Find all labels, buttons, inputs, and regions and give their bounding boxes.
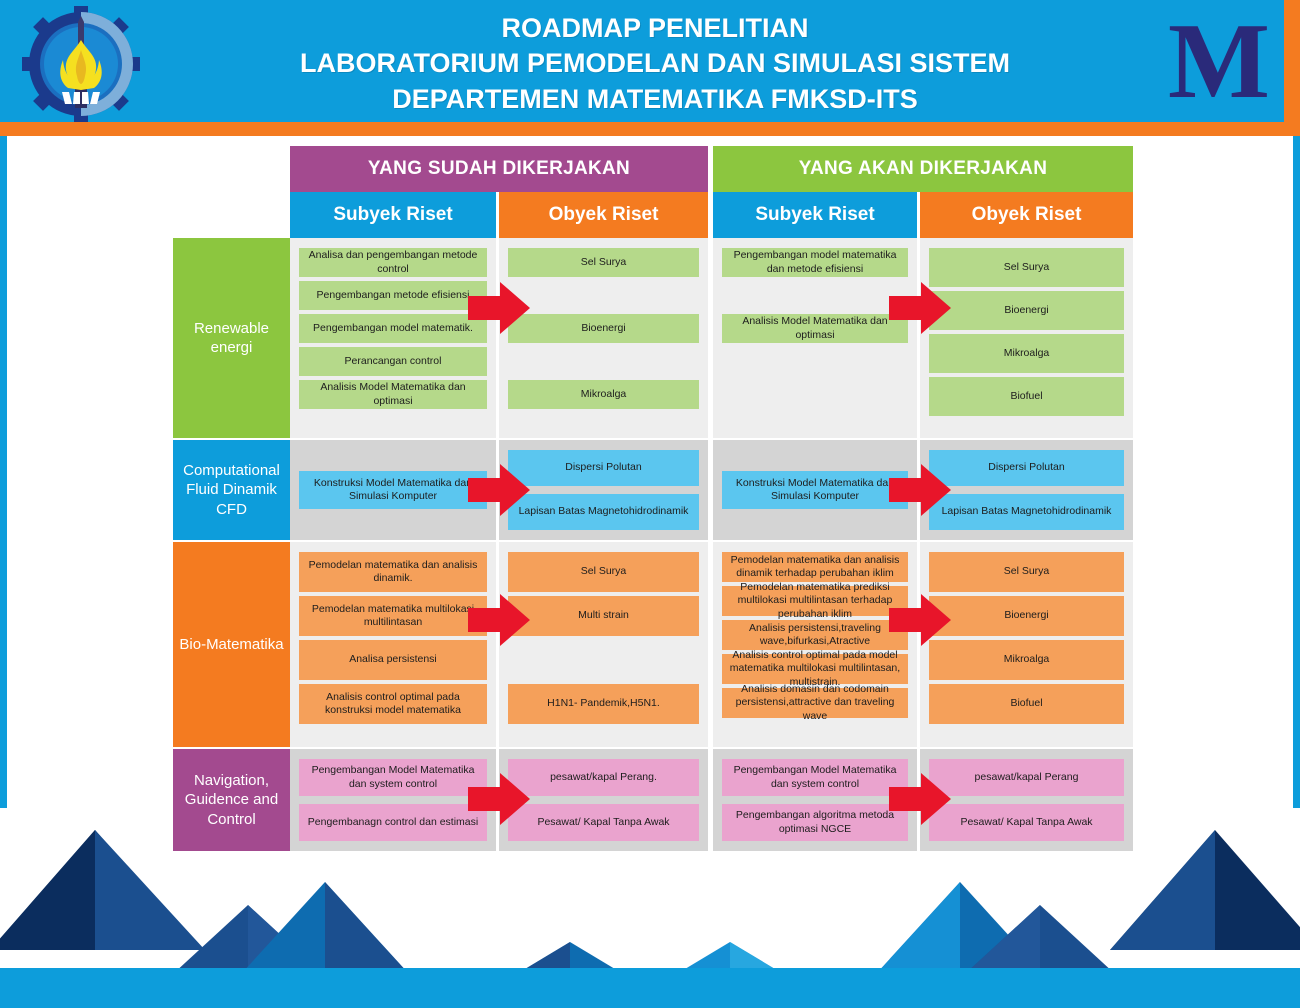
cell-panel-done-subject: Konstruksi Model Matematika dan Simulasi…	[290, 440, 496, 540]
phase-header-done: YANG SUDAH DIKERJAKAN	[290, 146, 708, 192]
row-category-label: Computational Fluid Dinamik CFD	[177, 461, 286, 519]
cell-chip[interactable]: Perancangan control	[299, 347, 487, 376]
cell-chip[interactable]: Analisis Model Matematika dan optimasi	[722, 314, 908, 343]
cell-chip[interactable]: Analisis Model Matematika dan optimasi	[299, 380, 487, 409]
row-category-label: Bio-Matematika	[179, 635, 283, 654]
cell-chip[interactable]: Pengembangan Model Matematika dan system…	[299, 759, 487, 796]
cell-chip[interactable]: pesawat/kapal Perang.	[508, 759, 699, 796]
cell-chip[interactable]: Pemodelan matematika multilokasi multili…	[299, 596, 487, 636]
cell-chip[interactable]: Pengembangan Model Matematika dan system…	[722, 759, 908, 796]
cell-chip[interactable]: Sel Surya	[929, 552, 1124, 592]
row-category-label: Renewable energi	[177, 319, 286, 357]
cell-chip[interactable]: Bioenergi	[929, 291, 1124, 330]
cell-chip[interactable]: H1N1- Pandemik,H5N1.	[508, 684, 699, 724]
cell-chip-empty	[508, 347, 699, 376]
cell-chip[interactable]: Sel Surya	[508, 248, 699, 277]
row-category-2[interactable]: Computational Fluid Dinamik CFD	[173, 440, 290, 540]
cell-chip[interactable]: Sel Surya	[508, 552, 699, 592]
its-logo-icon	[22, 6, 140, 122]
column-header-object-done: Obyek Riset	[499, 192, 708, 238]
cell-chip-empty	[508, 640, 699, 680]
cell-chip[interactable]: Dispersi Polutan	[929, 450, 1124, 486]
cell-chip[interactable]: Mikroalga	[929, 640, 1124, 680]
roadmap-row: Bio-MatematikaPemodelan matematika dan a…	[0, 542, 1300, 747]
cell-chip[interactable]: Analisa persistensi	[299, 640, 487, 680]
cell-chip[interactable]: Konstruksi Model Matematika dan Simulasi…	[299, 471, 487, 509]
right-edge-strip	[1293, 136, 1300, 808]
right-arrow-icon	[889, 771, 951, 827]
cell-panel-done-object: Sel SuryaMulti strainH1N1- Pandemik,H5N1…	[499, 542, 708, 747]
cell-panel-todo-object: Sel SuryaBioenergiMikroalgaBiofuel	[920, 542, 1133, 747]
cell-chip[interactable]: Pengembangan model matematika dan metode…	[722, 248, 908, 277]
right-arrow-icon	[889, 592, 951, 648]
header-right-accent-bar	[1284, 0, 1300, 136]
title-line-1: ROADMAP PENELITIAN	[501, 11, 808, 47]
cell-chip-empty	[722, 281, 908, 310]
page-title: ROADMAP PENELITIAN LABORATORIUM PEMODELA…	[150, 8, 1160, 120]
cell-panel-done-object: Dispersi PolutanLapisan Batas Magnetohid…	[499, 440, 708, 540]
cell-chip[interactable]: Lapisan Batas Magnetohidrodinamik	[508, 494, 699, 530]
column-header-subject-done: Subyek Riset	[290, 192, 496, 238]
cell-chip[interactable]: Pemodelan matematika dan analisis dinami…	[722, 552, 908, 582]
header-underline-accent-bar	[0, 122, 1284, 136]
cell-panel-todo-object: Dispersi PolutanLapisan Batas Magnetohid…	[920, 440, 1133, 540]
left-edge-strip	[0, 136, 7, 808]
cell-chip[interactable]: Pemodelan matematika prediksi multilokas…	[722, 586, 908, 616]
cell-chip[interactable]: Analisis domasin dan codomain persistens…	[722, 688, 908, 718]
title-line-2: LABORATORIUM PEMODELAN DAN SIMULASI SIST…	[300, 46, 1010, 82]
cell-chip[interactable]: Pengembangan metode efisiensi	[299, 281, 487, 310]
cell-panel-done-object: Sel SuryaBioenergiMikroalga	[499, 238, 708, 438]
roadmap-row: Computational Fluid Dinamik CFDKonstruks…	[0, 440, 1300, 540]
cell-panel-todo-object: Sel SuryaBioenergiMikroalgaBiofuel	[920, 238, 1133, 438]
right-arrow-icon	[889, 462, 951, 518]
cell-chip[interactable]: Analisa dan pengembangan metode control	[299, 248, 487, 277]
row-category-3[interactable]: Bio-Matematika	[173, 542, 290, 747]
cell-panel-done-subject: Pemodelan matematika dan analisis dinami…	[290, 542, 496, 747]
cell-chip[interactable]: Dispersi Polutan	[508, 450, 699, 486]
cell-chip-empty	[508, 281, 699, 310]
cell-chip[interactable]: Mikroalga	[508, 380, 699, 409]
cell-chip-empty	[722, 347, 908, 376]
cell-chip[interactable]: Bioenergi	[929, 596, 1124, 636]
cell-chip[interactable]: Biofuel	[929, 377, 1124, 416]
m-logo-letter: M	[1168, 8, 1268, 116]
cell-chip[interactable]: Konstruksi Model Matematika dan Simulasi…	[722, 471, 908, 509]
cell-chip[interactable]: Lapisan Batas Magnetohidrodinamik	[929, 494, 1124, 530]
cell-chip[interactable]: Mikroalga	[929, 334, 1124, 373]
cell-chip[interactable]: Pemodelan matematika dan analisis dinami…	[299, 552, 487, 592]
cell-panel-todo-subject: Pengembangan model matematika dan metode…	[713, 238, 917, 438]
column-header-subject-todo: Subyek Riset	[713, 192, 917, 238]
matematika-m-logo-icon: M	[1164, 6, 1272, 118]
column-header-object-todo: Obyek Riset	[920, 192, 1133, 238]
right-arrow-icon	[889, 280, 951, 336]
cell-chip[interactable]: Pengembangan model matematik.	[299, 314, 487, 343]
right-arrow-icon	[468, 771, 530, 827]
right-arrow-icon	[468, 280, 530, 336]
roadmap-poster: ROADMAP PENELITIAN LABORATORIUM PEMODELA…	[0, 0, 1300, 1008]
cell-chip[interactable]: Bioenergi	[508, 314, 699, 343]
cell-chip[interactable]: pesawat/kapal Perang	[929, 759, 1124, 796]
cell-panel-done-subject: Analisa dan pengembangan metode controlP…	[290, 238, 496, 438]
cell-chip[interactable]: Sel Surya	[929, 248, 1124, 287]
cell-panel-todo-subject: Pemodelan matematika dan analisis dinami…	[713, 542, 917, 747]
cell-chip[interactable]: Analisis control optimal pada konstruksi…	[299, 684, 487, 724]
row-category-1[interactable]: Renewable energi	[173, 238, 290, 438]
decorative-mountains	[0, 800, 1300, 1008]
cell-chip[interactable]: Multi strain	[508, 596, 699, 636]
cell-chip[interactable]: Analisis control optimal pada model mate…	[722, 654, 908, 684]
roadmap-row: Renewable energiAnalisa dan pengembangan…	[0, 238, 1300, 438]
cell-chip[interactable]: Biofuel	[929, 684, 1124, 724]
phase-header-todo: YANG AKAN DIKERJAKAN	[713, 146, 1133, 192]
roadmap-table: YANG SUDAH DIKERJAKAN YANG AKAN DIKERJAK…	[0, 136, 1300, 856]
right-arrow-icon	[468, 462, 530, 518]
cell-chip-empty	[722, 380, 908, 409]
cell-chip[interactable]: Analisis persistensi,traveling wave,bifu…	[722, 620, 908, 650]
roadmap-rows: Renewable energiAnalisa dan pengembangan…	[0, 238, 1300, 853]
right-arrow-icon	[468, 592, 530, 648]
cell-panel-todo-subject: Konstruksi Model Matematika dan Simulasi…	[713, 440, 917, 540]
title-line-3: DEPARTEMEN MATEMATIKA FMKSD-ITS	[392, 82, 917, 118]
